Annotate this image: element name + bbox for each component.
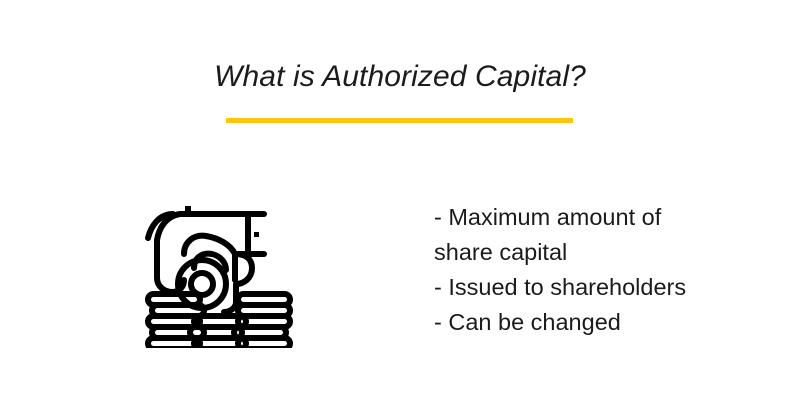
bullet-line: - Maximum amount of bbox=[434, 200, 764, 235]
lower-palm-outline bbox=[224, 302, 236, 312]
slide-canvas: What is Authorized Capital? bbox=[0, 0, 800, 400]
sleeve-dot-detail bbox=[185, 206, 191, 212]
icon-artwork bbox=[142, 196, 294, 348]
bullet-line: share capital bbox=[434, 235, 764, 270]
bullet-line: - Can be changed bbox=[434, 305, 764, 340]
bullet-line: - Issued to shareholders bbox=[434, 270, 764, 305]
gold-underline bbox=[226, 118, 573, 123]
bill-dot-detail bbox=[254, 232, 259, 237]
title-block: What is Authorized Capital? bbox=[0, 58, 800, 96]
bullet-list: - Maximum amount of share capital - Issu… bbox=[434, 200, 764, 340]
page-title: What is Authorized Capital? bbox=[0, 58, 800, 96]
hand-holding-coin-with-coin-stacks-icon bbox=[142, 196, 294, 348]
bill-outline bbox=[180, 214, 248, 254]
